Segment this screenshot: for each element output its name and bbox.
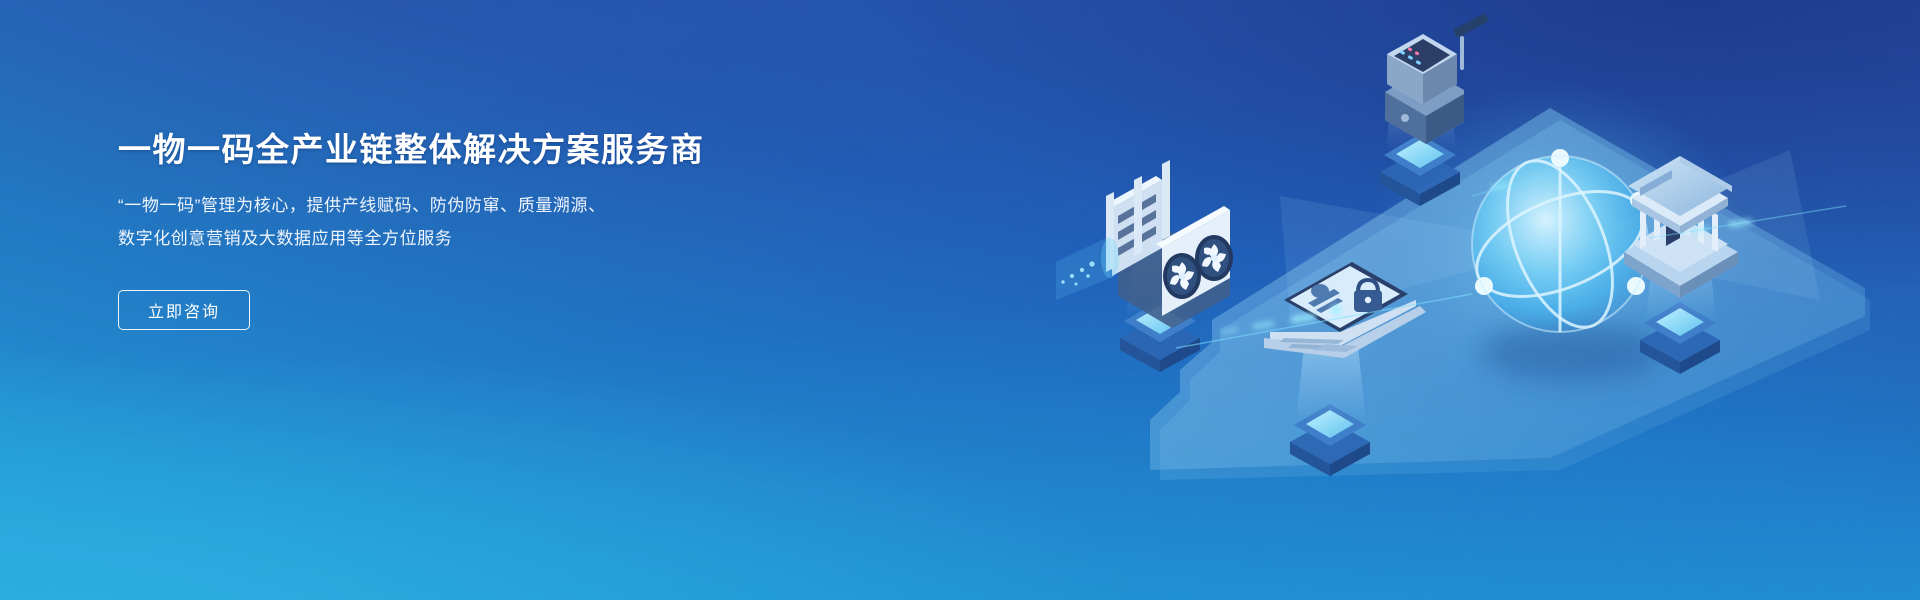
server-rack-icon (1106, 160, 1233, 328)
consult-now-button[interactable]: 立即咨询 (118, 290, 250, 330)
hero-banner: 一物一码全产业链整体解决方案服务商 “一物一码”管理为核心，提供产线赋码、防伪防… (0, 0, 1920, 600)
pedestal-laptop (1290, 346, 1370, 476)
hero-subtitle-line-2: 数字化创意营销及大数据应用等全方位服务 (118, 222, 838, 255)
hero-copy: 一物一码全产业链整体解决方案服务商 “一物一码”管理为核心，提供产线赋码、防伪防… (118, 128, 838, 330)
airflow-jet (1056, 236, 1119, 300)
hero-subtitle: “一物一码”管理为核心，提供产线赋码、防伪防窜、质量溯源、 数字化创意营销及大数… (118, 189, 838, 255)
page-title: 一物一码全产业链整体解决方案服务商 (118, 128, 838, 172)
isometric-illustration (860, 0, 1920, 600)
hero-subtitle-line-1: “一物一码”管理为核心，提供产线赋码、防伪防窜、质量溯源、 (118, 189, 838, 222)
